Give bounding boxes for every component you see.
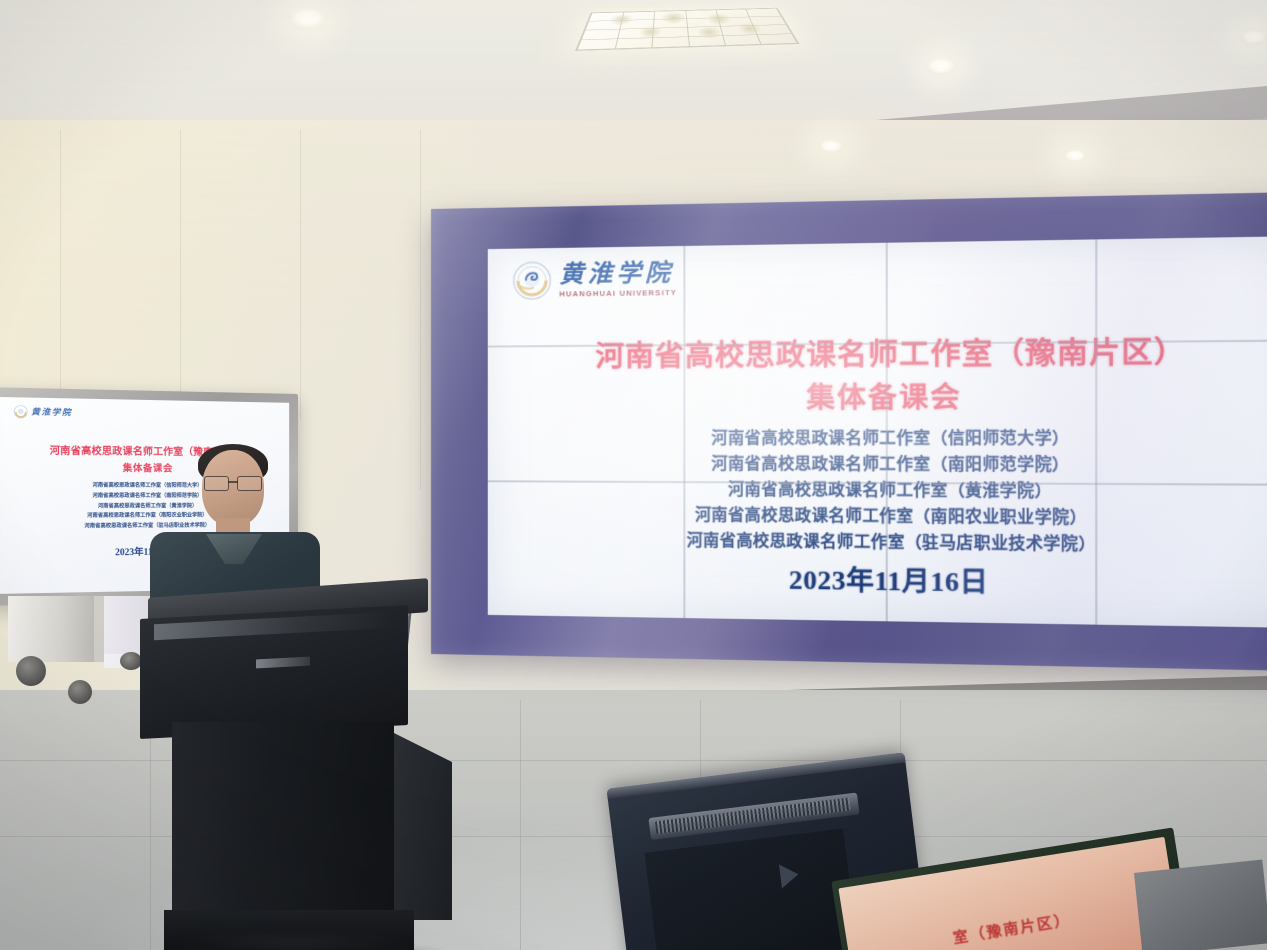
wall-panel-seam	[300, 130, 301, 420]
lectern-side	[388, 730, 452, 920]
sign-shadow	[180, 930, 410, 950]
monitor-brand-name: 黄淮学院	[31, 406, 72, 418]
photograph-scene: 黄淮学院 HUANGHUAI UNIVERSITY 河南省高校思政课名师工作室（…	[0, 0, 1267, 950]
recessed-downlight-icon	[1063, 150, 1087, 162]
recessed-downlight-icon	[288, 8, 328, 30]
speaker-glasses	[204, 476, 262, 489]
wall-panel-seam	[420, 130, 421, 490]
gray-panel	[1134, 859, 1267, 950]
panel-seam	[886, 243, 888, 622]
presentation-slide: 黄淮学院 HUANGHUAI UNIVERSITY 河南省高校思政课名师工作室（…	[488, 236, 1267, 628]
video-wall-display[interactable]: 黄淮学院 HUANGHUAI UNIVERSITY 河南省高校思政课名师工作室（…	[431, 192, 1267, 672]
monitor-brand: 黄淮学院	[14, 405, 73, 420]
huanghuai-university-seal-icon	[14, 405, 28, 419]
recessed-downlight-icon	[818, 140, 844, 153]
recessed-downlight-icon	[925, 58, 957, 75]
brand-name-en: HUANGHUAI UNIVERSITY	[559, 289, 677, 298]
organization-line: 河南省高校思政课名师工作室（信阳师范大学）	[488, 426, 1267, 453]
panel-seam	[1095, 239, 1097, 624]
brand-wordmark: 黄淮学院 HUANGHUAI UNIVERSITY	[559, 261, 677, 298]
organization-line: 河南省高校思政课名师工作室（南阳师范学院）	[488, 451, 1267, 479]
recessed-downlight-icon	[1240, 30, 1267, 45]
slide-date: 2023年11月16日	[488, 556, 1267, 605]
brand-name-cn: 黄淮学院	[559, 261, 677, 287]
slide-title-line1: 河南省高校思政课名师工作室（豫南片区）	[488, 329, 1267, 376]
video-wall-screen[interactable]: 黄淮学院 HUANGHUAI UNIVERSITY 河南省高校思政课名师工作室（…	[488, 236, 1267, 628]
panel-seam	[683, 246, 685, 618]
organization-line: 河南省高校思政课名师工作室（驻马店职业技术学院）	[488, 527, 1267, 561]
lectern-and-speaker	[120, 440, 450, 950]
slide-title-line2: 集体备课会	[488, 373, 1267, 416]
huanghuai-university-seal-icon	[512, 260, 552, 301]
sign-text: 室（豫南片区）	[847, 892, 1176, 950]
floor-tile-line	[520, 700, 521, 950]
slide-organization-list: 河南省高校思政课名师工作室（信阳师范大学） 河南省高校思政课名师工作室（南阳师范…	[488, 426, 1267, 561]
slide-brand: 黄淮学院 HUANGHUAI UNIVERSITY	[512, 258, 677, 301]
grid-panel-light-icon	[575, 8, 800, 51]
play-triangle-icon	[779, 862, 800, 888]
